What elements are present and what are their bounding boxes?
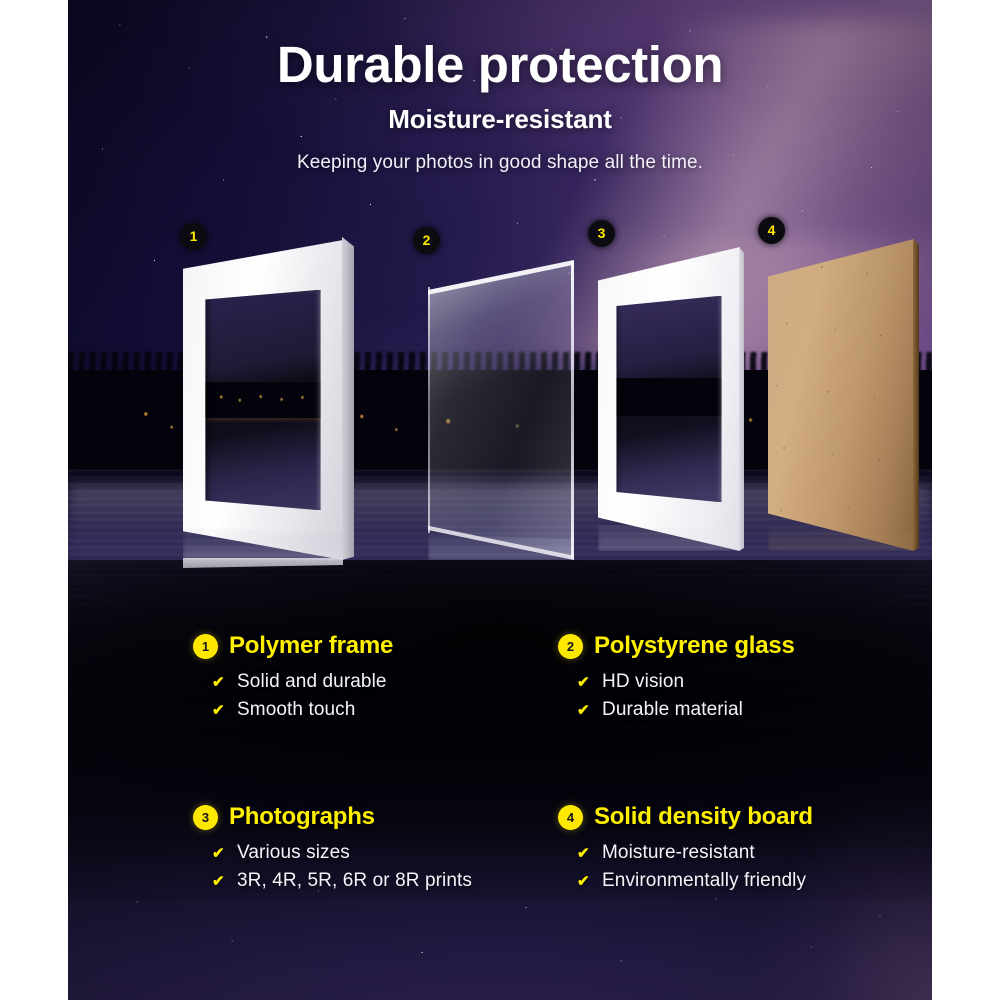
feature-heading: 2 Polystyrene glass (558, 632, 932, 660)
mat-right-edge (739, 247, 744, 551)
feature-badge-1: 1 (193, 634, 218, 659)
feature-item-text: 3R, 4R, 5R, 6R or 8R prints (237, 870, 472, 892)
feature-item: ✔ Durable material (577, 699, 932, 721)
part-badge-3: 3 (588, 220, 615, 247)
feature-block-polystyrene-glass: 2 Polystyrene glass ✔ HD vision ✔ Durabl… (500, 632, 932, 727)
feature-item: ✔ Various sizes (212, 842, 500, 864)
feature-block-solid-density-board: 4 Solid density board ✔ Moisture-resista… (500, 803, 932, 898)
feature-heading: 3 Photographs (193, 803, 500, 831)
feature-item-text: Durable material (602, 699, 743, 721)
feature-title-1: Polymer frame (229, 632, 393, 660)
feature-heading: 4 Solid density board (558, 803, 932, 831)
check-icon: ✔ (577, 846, 591, 861)
page-subtitle: Moisture-resistant (68, 92, 932, 135)
part-polymer-frame (183, 240, 343, 560)
frame-inner-bevel (205, 290, 320, 511)
feature-heading: 1 Polymer frame (193, 632, 500, 660)
frame-right-edge (342, 237, 354, 560)
feature-row-1: 1 Polymer frame ✔ Solid and durable ✔ Sm… (68, 632, 932, 727)
feature-item-text: Solid and durable (237, 671, 387, 693)
part-badge-1: 1 (180, 223, 207, 250)
product-infographic-page: Durable protection Moisture-resistant Ke… (0, 0, 1000, 1000)
check-icon: ✔ (577, 703, 591, 718)
feature-badge-2: 2 (558, 634, 583, 659)
feature-item: ✔ Moisture-resistant (577, 842, 932, 864)
check-icon: ✔ (212, 846, 226, 861)
feature-badge-4: 4 (558, 805, 583, 830)
feature-item: ✔ Smooth touch (212, 699, 500, 721)
page-description: Keeping your photos in good shape all th… (68, 135, 932, 174)
check-icon: ✔ (212, 874, 226, 889)
glass-sheen (428, 260, 574, 560)
feature-list: 1 Polymer frame ✔ Solid and durable ✔ Sm… (68, 632, 932, 898)
feature-item: ✔ 3R, 4R, 5R, 6R or 8R prints (212, 870, 500, 892)
feature-title-4: Solid density board (594, 803, 813, 831)
check-icon: ✔ (212, 703, 226, 718)
check-icon: ✔ (212, 675, 226, 690)
part-photographs-mat (598, 247, 740, 551)
feature-item-text: Environmentally friendly (602, 870, 806, 892)
exploded-components-diagram: 1 2 3 (68, 215, 932, 575)
board-shading (768, 239, 914, 551)
feature-block-photographs: 3 Photographs ✔ Various sizes ✔ 3R, 4R, … (68, 803, 500, 898)
part-badge-2: 2 (413, 227, 440, 254)
part-solid-density-board (768, 239, 914, 551)
feature-item-text: Moisture-resistant (602, 842, 755, 864)
board-right-edge (913, 239, 919, 551)
part-badge-4: 4 (758, 217, 785, 244)
check-icon: ✔ (577, 874, 591, 889)
glass-left-edge (428, 287, 430, 533)
feature-badge-3: 3 (193, 805, 218, 830)
feature-item: ✔ Solid and durable (212, 671, 500, 693)
glass-right-edge (571, 260, 574, 560)
feature-item-text: Smooth touch (237, 699, 355, 721)
feature-title-2: Polystyrene glass (594, 632, 795, 660)
feature-item: ✔ Environmentally friendly (577, 870, 932, 892)
check-icon: ✔ (577, 675, 591, 690)
feature-item: ✔ HD vision (577, 671, 932, 693)
mat-inner-bevel (616, 296, 721, 503)
part-polystyrene-glass (428, 260, 574, 560)
feature-item-text: HD vision (602, 671, 684, 693)
feature-block-polymer-frame: 1 Polymer frame ✔ Solid and durable ✔ Sm… (68, 632, 500, 727)
feature-title-3: Photographs (229, 803, 375, 831)
page-title: Durable protection (68, 0, 932, 92)
feature-item-text: Various sizes (237, 842, 350, 864)
header: Durable protection Moisture-resistant Ke… (68, 0, 932, 174)
feature-row-2: 3 Photographs ✔ Various sizes ✔ 3R, 4R, … (68, 803, 932, 898)
